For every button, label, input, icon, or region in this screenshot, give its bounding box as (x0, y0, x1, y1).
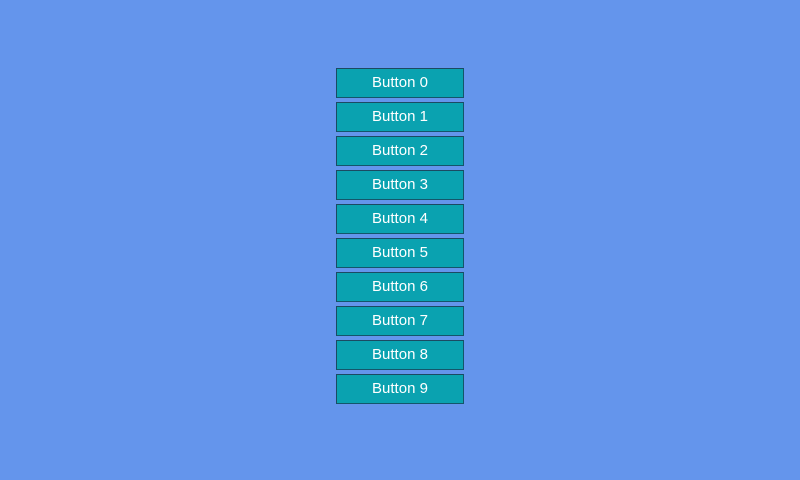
button-5[interactable]: Button 5 (336, 238, 464, 268)
button-2[interactable]: Button 2 (336, 136, 464, 166)
button-0[interactable]: Button 0 (336, 68, 464, 98)
button-stack: Button 0 Button 1 Button 2 Button 3 Butt… (0, 68, 800, 404)
button-9[interactable]: Button 9 (336, 374, 464, 404)
button-3[interactable]: Button 3 (336, 170, 464, 200)
button-1[interactable]: Button 1 (336, 102, 464, 132)
button-7[interactable]: Button 7 (336, 306, 464, 336)
app-root: Button 0 Button 1 Button 2 Button 3 Butt… (0, 0, 800, 480)
button-6[interactable]: Button 6 (336, 272, 464, 302)
button-8[interactable]: Button 8 (336, 340, 464, 370)
button-4[interactable]: Button 4 (336, 204, 464, 234)
